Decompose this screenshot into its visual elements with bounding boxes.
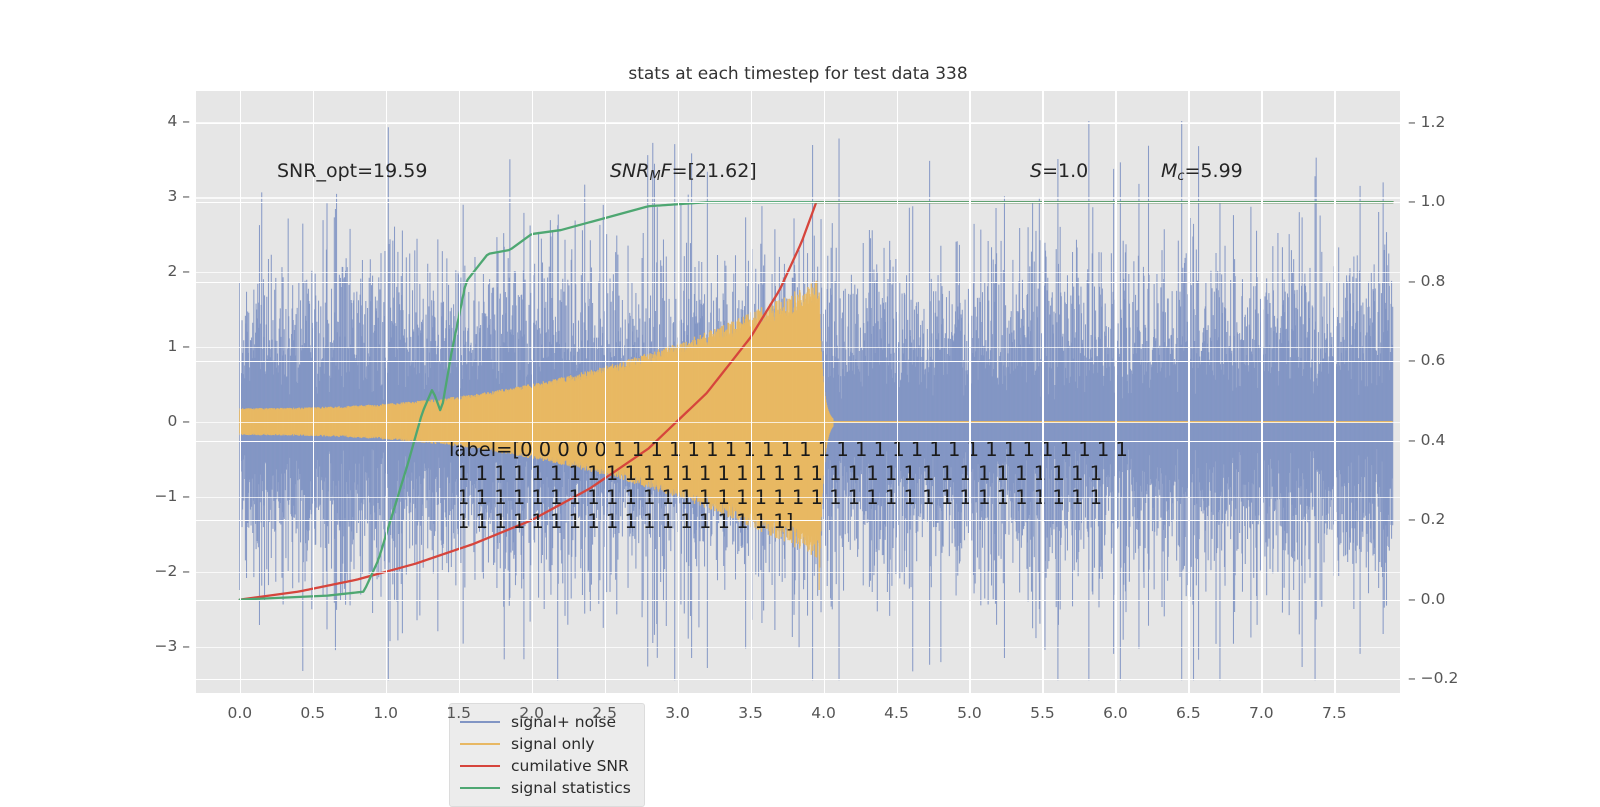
gridline-vertical: [1334, 91, 1335, 693]
annotation-signal-stat: S=1.0: [1030, 160, 1088, 182]
gridline-vertical: [1261, 91, 1262, 693]
y-axis-right-tick-label: – 0.2: [1408, 510, 1484, 528]
gridline-horizontal-left: [196, 122, 1400, 123]
x-axis-tick-label: 7.0: [1235, 704, 1287, 722]
gridline-vertical: [605, 91, 606, 693]
x-axis-tick-label: 6.0: [1089, 704, 1141, 722]
x-axis-tick-label: 3.0: [652, 704, 704, 722]
gridline-horizontal-left: [196, 347, 1400, 348]
gridline-horizontal: [196, 282, 1400, 283]
label-array-line: 1 1 1 1 1 1 1 1 1 1 1 1 1 1 1 1 1 1 1 1 …: [449, 486, 1128, 510]
gridline-vertical: [969, 91, 970, 693]
gridline-horizontal-left: [196, 647, 1400, 648]
gridline-vertical: [532, 91, 533, 693]
x-axis-tick-label: 5.5: [1016, 704, 1068, 722]
y-axis-right-tick-label: – 0.4: [1408, 431, 1484, 449]
gridline-horizontal: [196, 679, 1400, 680]
x-axis-tick-label: 6.5: [1162, 704, 1214, 722]
gridline-vertical: [459, 91, 460, 693]
chart-title: stats at each timestep for test data 338: [196, 64, 1400, 84]
gridline-horizontal-left: [196, 422, 1400, 423]
gridline-horizontal: [196, 361, 1400, 362]
x-axis-tick-label: 7.5: [1308, 704, 1360, 722]
y-axis-tick-label: −2 –: [118, 562, 190, 580]
y-axis-tick-label: −3 –: [118, 637, 190, 655]
y-axis-tick-label: 2 –: [118, 262, 190, 280]
x-axis-tick-label: 1.5: [433, 704, 485, 722]
y-axis-right-tick-label: – 0.0: [1408, 590, 1484, 608]
y-axis-right-tick-label: – 1.2: [1408, 113, 1484, 131]
x-axis-tick-label: 2.5: [579, 704, 631, 722]
gridline-horizontal: [196, 600, 1400, 601]
legend-swatch-line: [460, 787, 500, 789]
x-axis-tick-label: 0.0: [214, 704, 266, 722]
y-axis-tick-label: −1 –: [118, 487, 190, 505]
x-axis-tick-label: 0.5: [287, 704, 339, 722]
x-axis-tick-label: 4.5: [871, 704, 923, 722]
y-axis-tick-label: 4 –: [118, 112, 190, 130]
y-axis-right-tick-label: – −0.2: [1408, 669, 1484, 687]
gridline-vertical: [824, 91, 825, 693]
annotation-snr-opt: SNR_opt=19.59: [277, 160, 427, 182]
legend-item-label: signal statistics: [511, 779, 631, 797]
x-axis-tick-label: 1.0: [360, 704, 412, 722]
y-axis-right-tick-label: – 0.8: [1408, 272, 1484, 290]
legend-item[interactable]: cumilative SNR: [460, 755, 631, 777]
legend-item[interactable]: signal only: [460, 733, 631, 755]
figure-canvas: stats at each timestep for test data 338…: [0, 0, 1600, 800]
gridline-horizontal-left: [196, 497, 1400, 498]
legend-swatch-line: [460, 765, 500, 767]
gridline-vertical: [1115, 91, 1116, 693]
gridline-horizontal: [196, 520, 1400, 521]
y-axis-tick-label: 1 –: [118, 337, 190, 355]
legend-swatch-line: [460, 743, 500, 745]
gridline-vertical: [897, 91, 898, 693]
x-axis-tick-label: 3.5: [725, 704, 777, 722]
annotation-snr-mf: SNRMF=[21.62]: [610, 160, 757, 184]
y-axis-tick-label: 0 –: [118, 412, 190, 430]
gridline-horizontal-left: [196, 572, 1400, 573]
gridline-horizontal: [196, 441, 1400, 442]
label-array-line: 1 1 1 1 1 1 1 1 1 1 1 1 1 1 1 1 1 1 1 1 …: [449, 462, 1128, 486]
gridline-horizontal-left: [196, 197, 1400, 198]
annotation-chirp-mass: Mc=5.99: [1161, 160, 1243, 184]
legend-item-label: cumilative SNR: [511, 757, 629, 775]
y-axis-right-tick-label: – 0.6: [1408, 351, 1484, 369]
x-axis-tick-label: 5.0: [943, 704, 995, 722]
y-axis-right-tick-label: – 1.0: [1408, 192, 1484, 210]
gridline-vertical: [240, 91, 241, 693]
y-axis-tick-label: 3 –: [118, 187, 190, 205]
x-axis-tick-label: 2.0: [506, 704, 558, 722]
gridline-horizontal: [196, 202, 1400, 203]
gridline-horizontal-left: [196, 272, 1400, 273]
x-axis-tick-label: 4.0: [798, 704, 850, 722]
legend-item-label: signal only: [511, 735, 595, 753]
legend-item[interactable]: signal statistics: [460, 777, 631, 799]
label-array-line: 1 1 1 1 1 1 1 1 1 1 1 1 1 1 1 1 1 1]: [449, 510, 1128, 534]
